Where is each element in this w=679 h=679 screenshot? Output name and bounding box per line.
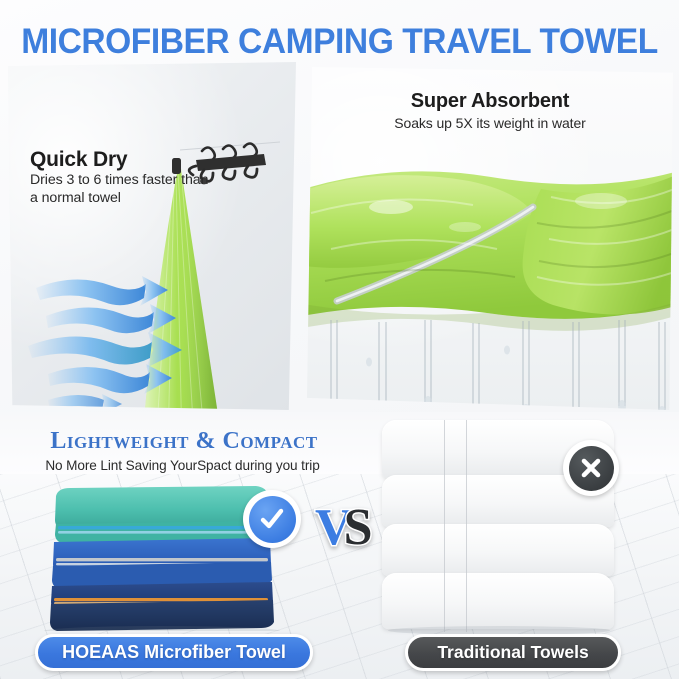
infographic-canvas: MICROFIBER CAMPING TRAVEL TOWEL (0, 0, 679, 679)
versus-s: S (344, 499, 373, 556)
water-drips (307, 320, 673, 410)
check-icon (257, 504, 287, 534)
panel-quick-dry-content: Quick Dry Dries 3 to 6 times faster than… (8, 62, 296, 410)
panel-quick-dry: Quick Dry Dries 3 to 6 times faster than… (8, 62, 296, 410)
panel-super-absorbent: Super Absorbent Soaks up 5X its weight i… (307, 65, 673, 410)
comparison-subtext: No More Lint Saving YourSpact during you… (10, 458, 355, 473)
towel-fold-seam (466, 420, 467, 632)
quick-dry-subtext: Dries 3 to 6 times faster than a normal … (30, 172, 215, 207)
label-traditional-towels: Traditional Towels (405, 634, 621, 671)
white-towel-layer (382, 524, 614, 576)
super-absorbent-subtext: Soaks up 5X its weight in water (307, 115, 673, 131)
page-title: MICROFIBER CAMPING TRAVEL TOWEL (14, 22, 666, 62)
comparison-heading: Lightweight & Compact (24, 428, 344, 455)
x-badge (563, 440, 619, 496)
check-badge-inner (249, 496, 296, 543)
quick-dry-heading: Quick Dry (30, 148, 127, 172)
label-hoeaas-microfiber-towel: HOEAAS Microfiber Towel (35, 634, 313, 671)
super-absorbent-heading: Super Absorbent (307, 90, 673, 113)
close-x-icon (577, 454, 605, 482)
x-badge-inner (569, 446, 614, 491)
wet-green-towel (307, 153, 673, 338)
check-badge (243, 490, 301, 548)
airflow-arrows-icon (18, 262, 198, 410)
versus-label: VS (315, 502, 372, 554)
towel-fold-seam (444, 420, 445, 632)
white-towel-layer (382, 573, 614, 629)
